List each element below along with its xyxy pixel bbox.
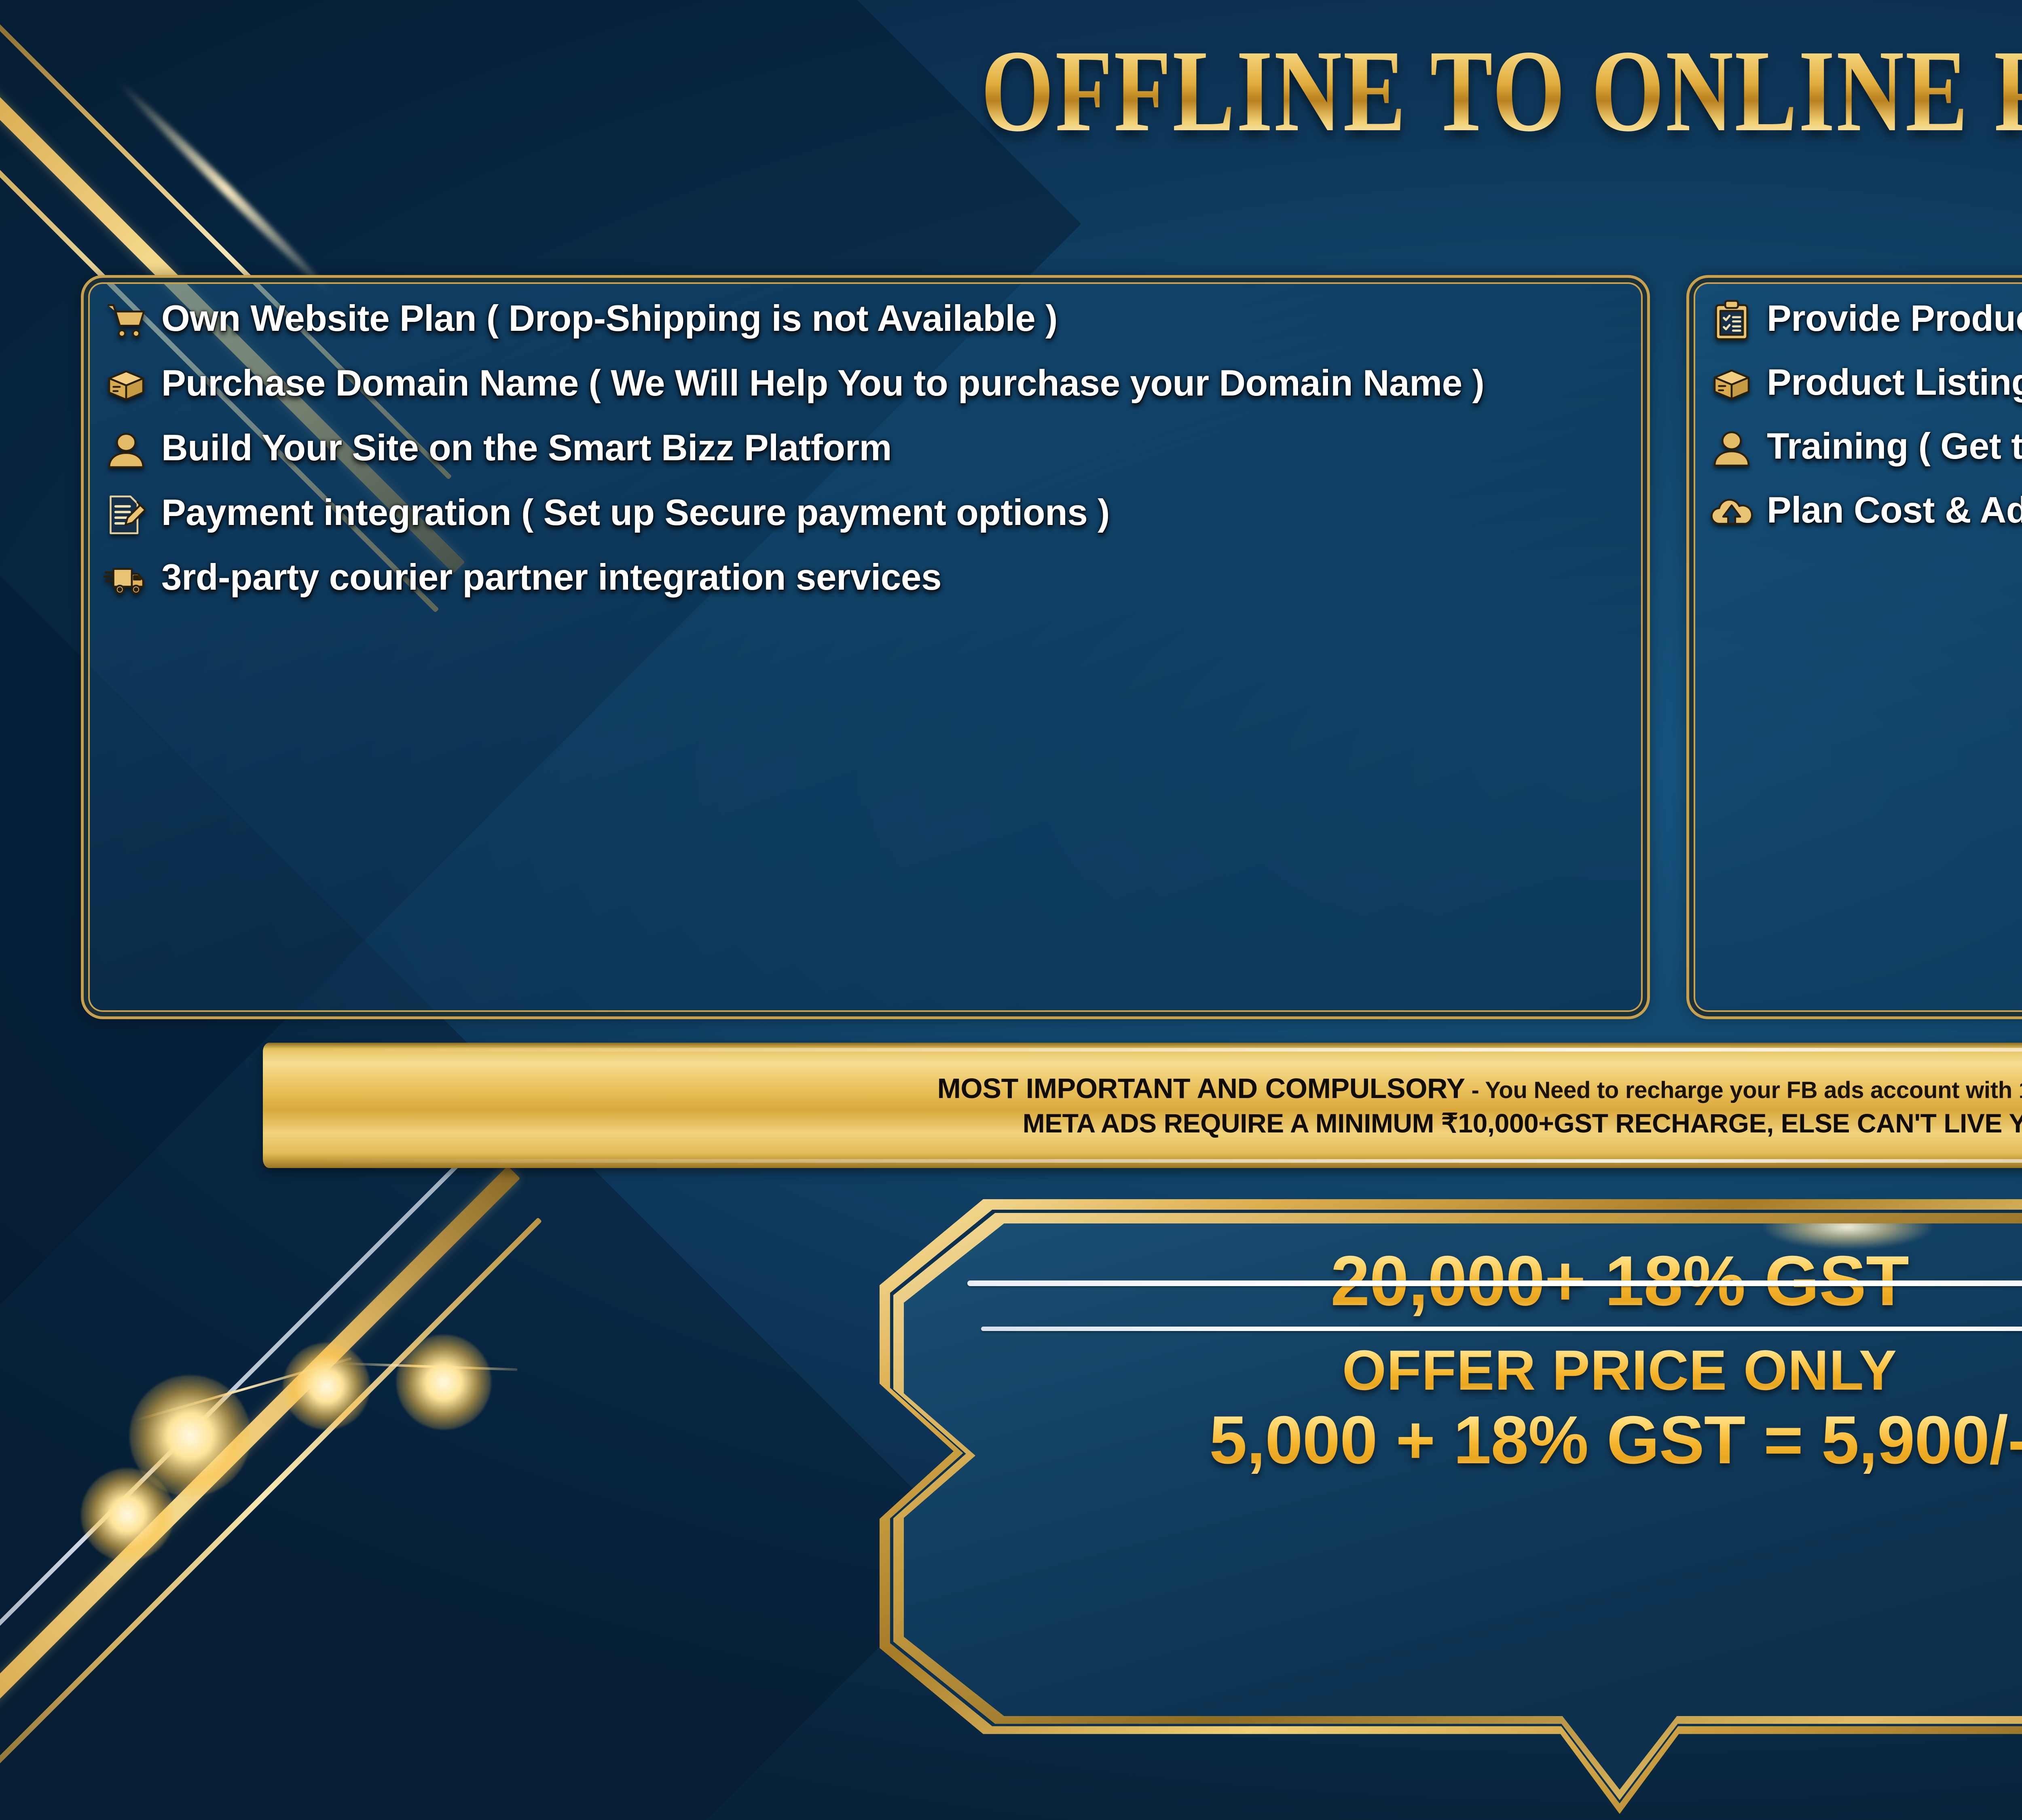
feature-label: Training ( Get training for adding more … xyxy=(1767,423,2022,468)
package-box-icon xyxy=(1708,362,1756,407)
strikethrough-line xyxy=(967,1280,2022,1286)
notice-strong-text: MOST IMPORTANT AND COMPULSORY xyxy=(937,1073,1465,1104)
feature-label: Purchase Domain Name ( We Will Help You … xyxy=(161,360,1484,405)
notice-line-1: MOST IMPORTANT AND COMPULSORY - You Need… xyxy=(937,1074,2022,1103)
notice-line-2: META ADS REQUIRE A MINIMUM ₹10,000+GST R… xyxy=(1023,1110,2022,1136)
feature-item-purchase-domain[interactable]: Purchase Domain Name ( We Will Help You … xyxy=(102,360,1629,408)
light-orb-4 xyxy=(396,1335,491,1430)
feature-item-own-website-plan[interactable]: Own Website Plan ( Drop-Shipping is not … xyxy=(102,296,1629,343)
right-feature-panel: Provide Product Info ( Client provides p… xyxy=(1686,275,2022,1019)
package-box-icon xyxy=(102,363,150,408)
feature-label: Plan Cost & Ads ( 5,000+ tax ( Plan Fee … xyxy=(1767,487,2022,532)
light-orb-3 xyxy=(283,1343,370,1430)
feature-item-training[interactable]: Training ( Get training for adding more … xyxy=(1708,423,2022,471)
feature-item-plan-cost-ads[interactable]: Plan Cost & Ads ( 5,000+ tax ( Plan Fee … xyxy=(1708,487,2022,535)
user-avatar-icon xyxy=(102,427,150,473)
feature-panels: Own Website Plan ( Drop-Shipping is not … xyxy=(81,275,2022,1019)
feature-label: Payment integration ( Set up Secure paym… xyxy=(161,490,1110,534)
feature-label: 3rd-party courier partner integration se… xyxy=(161,554,941,599)
old-price-row: 20,000+ 18% GST xyxy=(940,1245,2022,1318)
price-badge: 20,000+ 18% GST OFFER PRICE ONLY 5,000 +… xyxy=(880,1199,2022,1814)
badge-divider xyxy=(981,1327,2022,1331)
feature-item-product-listing[interactable]: Product Listing ( We will List 20 produc… xyxy=(1708,360,2022,407)
cloud-upload-icon xyxy=(1708,490,1756,535)
feature-item-courier-integration[interactable]: 3rd-party courier partner integration se… xyxy=(102,554,1629,602)
right-feature-list: Provide Product Info ( Client provides p… xyxy=(1708,296,2022,551)
feature-item-provide-product-info[interactable]: Provide Product Info ( Client provides p… xyxy=(1708,296,2022,343)
feature-item-build-site[interactable]: Build Your Site on the Smart Bizz Platfo… xyxy=(102,425,1629,473)
feature-label: Own Website Plan ( Drop-Shipping is not … xyxy=(161,296,1058,340)
feature-label: Provide Product Info ( Client provides p… xyxy=(1767,296,2022,340)
left-feature-list: Own Website Plan ( Drop-Shipping is not … xyxy=(102,296,1629,619)
feature-label: Build Your Site on the Smart Bizz Platfo… xyxy=(161,425,892,470)
page-title: OFFLINE TO ONLINE PLAN xyxy=(981,32,2022,150)
title-container: OFFLINE TO ONLINE PLAN xyxy=(0,32,2022,150)
feature-label: Product Listing ( We will List 20 produc… xyxy=(1767,360,2022,404)
clipboard-check-icon xyxy=(1708,298,1756,343)
user-avatar-icon xyxy=(1708,426,1756,471)
left-feature-panel: Own Website Plan ( Drop-Shipping is not … xyxy=(81,275,1650,1019)
offer-price-text: 5,000 + 18% GST = 5,900/- xyxy=(1209,1405,2022,1475)
compulsory-notice-banner: MOST IMPORTANT AND COMPULSORY - You Need… xyxy=(263,1043,2022,1168)
shopping-cart-icon xyxy=(102,298,150,343)
light-orb-2 xyxy=(129,1375,251,1496)
offer-label-text: OFFER PRICE ONLY xyxy=(1342,1342,1897,1399)
document-pencil-icon xyxy=(102,492,150,538)
feature-item-payment-integration[interactable]: Payment integration ( Set up Secure paym… xyxy=(102,490,1629,538)
badge-face: 20,000+ 18% GST OFFER PRICE ONLY 5,000 +… xyxy=(904,1223,2022,1790)
notice-rest-text: - You Need to recharge your FB ads accou… xyxy=(1465,1077,2022,1103)
delivery-truck-icon xyxy=(102,557,150,602)
